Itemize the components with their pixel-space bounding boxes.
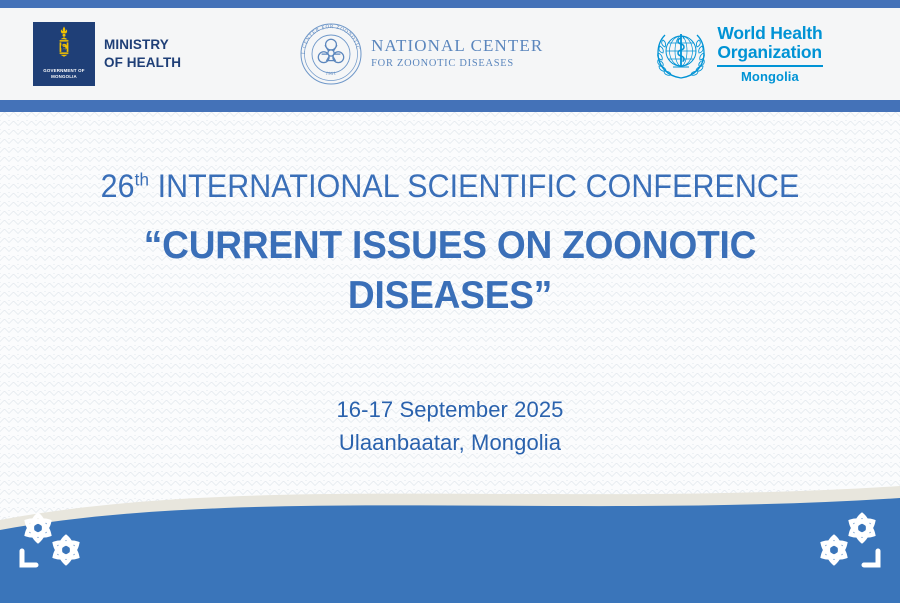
who-un-globe-asclepius-icon (653, 26, 709, 82)
conference-meta: 16-17 September 2025 Ulaanbaatar, Mongol… (0, 393, 900, 459)
conference-number: 26 (101, 168, 135, 204)
conference-date: 16-17 September 2025 (0, 393, 900, 426)
header-divider-strip (0, 100, 900, 112)
logo-world-health-organization: World Health Organization Mongolia (653, 8, 822, 100)
conference-title-slide: GOVERNMENT OF MONGOLIA MINISTRY OF HEALT… (0, 0, 900, 603)
logo-header-band: GOVERNMENT OF MONGOLIA MINISTRY OF HEALT… (0, 8, 900, 100)
who-divider-rule (717, 65, 822, 67)
ncz-name-line1: NATIONAL CENTER (371, 37, 543, 56)
conference-theme-title: “CURRENT ISSUES ON ZOONOTIC DISEASES” (23, 221, 878, 321)
ncz-name-line2: FOR ZOONOTIC DISEASES (371, 58, 543, 70)
who-country-label: Mongolia (717, 69, 822, 84)
who-name: World Health Organization Mongolia (717, 24, 822, 83)
logo-national-center-zoonotic-diseases: NATIONAL CENTER FOR ZOONOTIC DISEASES 19… (297, 8, 543, 100)
theme-line-2: DISEASES” (80, 271, 821, 321)
biohazard-seal-icon: NATIONAL CENTER FOR ZOONOTIC DISEASES 19… (297, 20, 365, 88)
theme-line-1: “CURRENT ISSUES ON ZOONOTIC (80, 221, 821, 271)
moh-name-line2: OF HEALTH (104, 54, 181, 72)
conference-label: INTERNATIONAL SCIENTIFIC CONFERENCE (158, 168, 800, 204)
ornament-left-ulzii-knot (12, 503, 104, 581)
ncz-name: NATIONAL CENTER FOR ZOONOTIC DISEASES (371, 37, 543, 70)
top-accent-strip (0, 0, 900, 8)
conference-location: Ulaanbaatar, Mongolia (0, 426, 900, 459)
moh-name-line1: MINISTRY (104, 36, 181, 54)
ministry-of-health-name: MINISTRY OF HEALTH (104, 36, 181, 72)
bottom-wave-decoration (0, 468, 900, 603)
conference-ordinal-suffix: th (135, 169, 149, 189)
mongolia-soyombo-emblem-icon: GOVERNMENT OF MONGOLIA (33, 22, 95, 86)
who-name-line1: World Health (717, 24, 822, 43)
conference-heading: 26th INTERNATIONAL SCIENTIFIC CONFERENCE (23, 168, 878, 205)
emblem-caption: GOVERNMENT OF MONGOLIA (33, 68, 95, 79)
ornament-right-ulzii-knot (796, 503, 888, 581)
who-name-line2: Organization (717, 43, 822, 62)
slide-content: 26th INTERNATIONAL SCIENTIFIC CONFERENCE… (0, 112, 900, 459)
svg-text:1951: 1951 (326, 70, 337, 76)
logo-ministry-of-health: GOVERNMENT OF MONGOLIA MINISTRY OF HEALT… (33, 8, 181, 100)
